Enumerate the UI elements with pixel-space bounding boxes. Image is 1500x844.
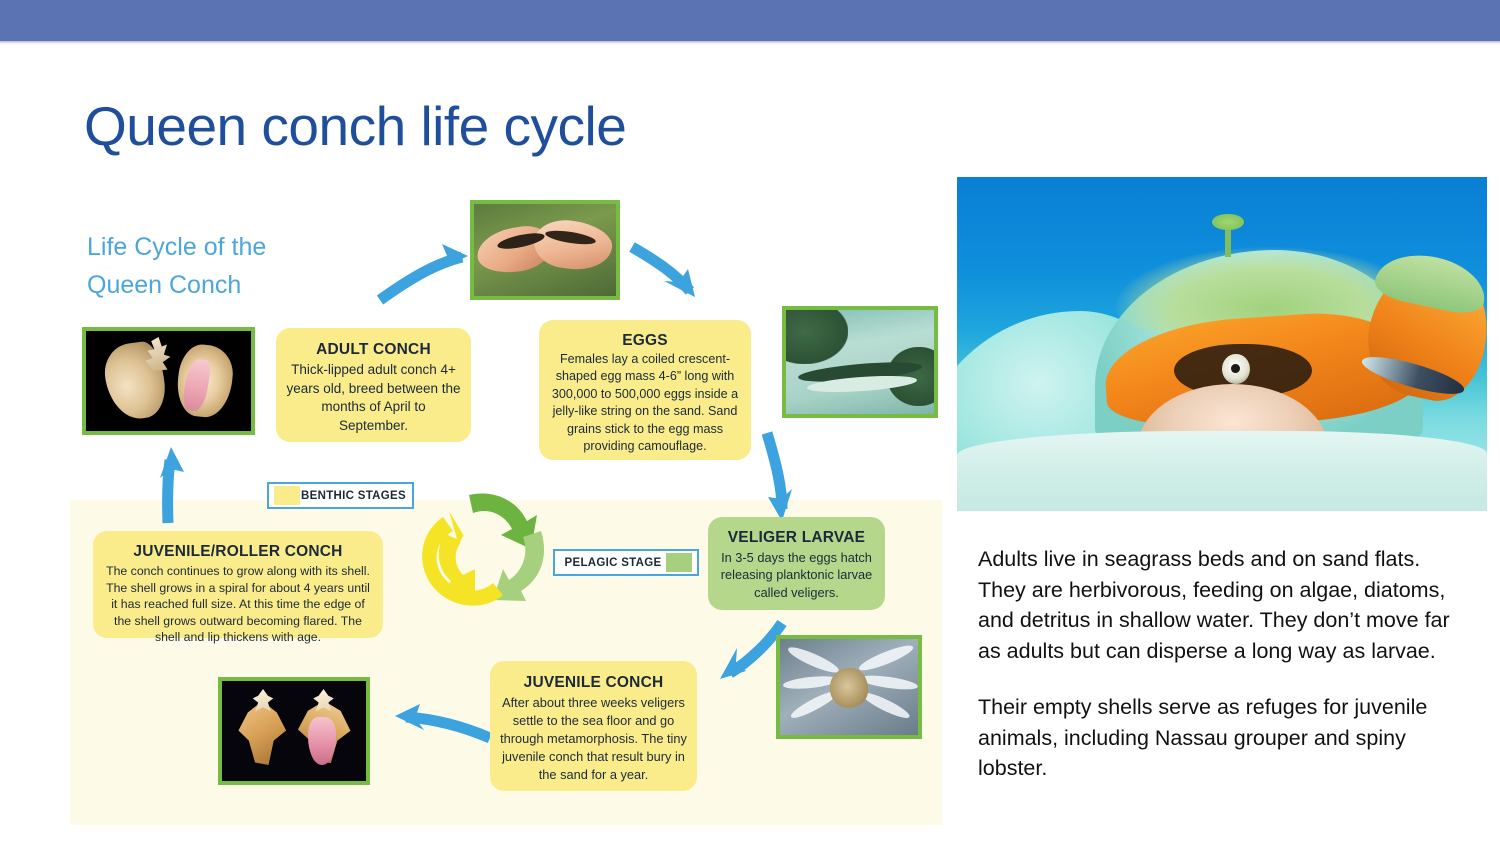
notes-paragraph-2: Their empty shells serve as refuges for … (978, 692, 1470, 784)
mating-conch-photo (470, 200, 620, 300)
veliger-lobe (860, 689, 912, 721)
stage-box-eggs: EGGS Females lay a coiled crescent-shape… (539, 320, 751, 460)
top-banner-bar (0, 0, 1500, 41)
veliger-lobe (857, 642, 915, 674)
benthic-swatch (274, 486, 300, 505)
arrow-mating-to-eggs-icon (632, 247, 695, 297)
stage-box-adult-conch: ADULT CONCH Thick-lipped adult conch 4+ … (276, 328, 471, 442)
arrow-juvenile-to-shells-icon (395, 704, 490, 738)
arrow-adult-to-mating-icon (380, 244, 468, 300)
recycle-center-hole (459, 527, 503, 571)
arrow-eggs-to-veliger-icon (767, 433, 792, 521)
mating-conch-right (531, 216, 614, 273)
juvenile-conch-pair-photo (218, 677, 370, 785)
stage-title-juvenile-conch: JUVENILE CONCH (500, 671, 687, 694)
veliger-lobe (860, 673, 919, 692)
legend-pelagic-label: PELAGIC STAGE (560, 557, 666, 569)
egg-photo-algae-left (786, 310, 848, 364)
stage-body-juvenile-conch: After about three weeks veligers settle … (500, 694, 687, 784)
legend-benthic-label: BENTHIC STAGES (300, 490, 407, 502)
stage-body-juvenile-roller-conch: The conch continues to grow along with i… (103, 563, 373, 646)
pelagic-swatch (666, 553, 692, 572)
life-cycle-diagram: Life Cycle of the Queen Conch (70, 175, 945, 825)
stage-body-adult-conch: Thick-lipped adult conch 4+ years old, b… (286, 361, 461, 435)
notes-text-block: Adults live in seagrass beds and on sand… (978, 544, 1470, 784)
stage-box-veliger-larvae: VELIGER LARVAE In 3-5 days the eggs hatc… (708, 517, 885, 610)
queen-conch-underwater-photo (957, 177, 1487, 511)
hero-sand-foreground (957, 431, 1487, 511)
page-title: Queen conch life cycle (84, 95, 944, 157)
notes-paragraph-1: Adults live in seagrass beds and on sand… (978, 544, 1470, 666)
stage-title-juvenile-roller-conch: JUVENILE/ROLLER CONCH (103, 541, 373, 563)
stage-box-juvenile-conch: JUVENILE CONCH After about three weeks v… (490, 661, 697, 791)
stage-title-adult-conch: ADULT CONCH (286, 339, 461, 361)
slide-canvas: Queen conch life cycle Life Cycle of the… (0, 0, 1500, 844)
adult-conch-pair-photo (82, 327, 255, 435)
veliger-lobe (786, 644, 841, 677)
stage-title-veliger-larvae: VELIGER LARVAE (717, 527, 876, 549)
stage-box-juvenile-roller-conch: JUVENILE/ROLLER CONCH The conch continue… (93, 531, 383, 638)
stage-body-eggs: Females lay a coiled crescent-shaped egg… (549, 351, 741, 455)
egg-mass-photo (782, 306, 938, 418)
stage-body-veliger-larvae: In 3-5 days the eggs hatch releasing pla… (717, 549, 876, 601)
veliger-body (830, 668, 869, 708)
recycle-arrows-icon (413, 487, 553, 612)
hero-conch-eyestalk (1222, 354, 1250, 384)
veliger-larva-photo (776, 635, 922, 739)
arrow-roller-to-adult-icon (160, 447, 184, 523)
legend-benthic-stages: BENTHIC STAGES (267, 482, 414, 509)
top-banner-shadow (0, 41, 1500, 44)
arrow-veliger-to-juvenile-icon (720, 623, 782, 679)
juvenile-shell-left (236, 701, 288, 765)
stage-title-eggs: EGGS (549, 330, 741, 351)
legend-pelagic-stage: PELAGIC STAGE (553, 549, 699, 576)
